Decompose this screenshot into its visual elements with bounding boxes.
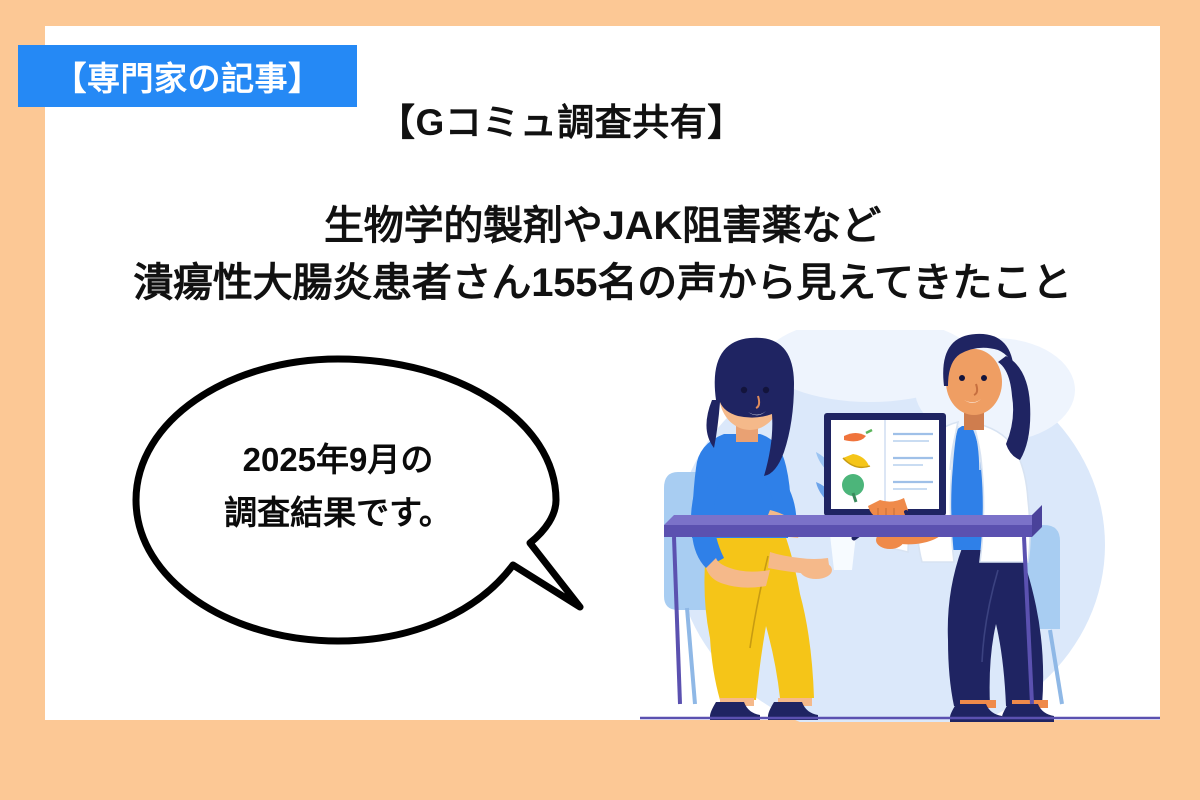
headline-line-1: 生物学的製剤やJAK阻害薬など (45, 198, 1160, 255)
eye-icon (741, 387, 747, 393)
hand-icon (800, 561, 832, 579)
speech-bubble: 2025年9月の 調査結果です。 (128, 355, 598, 655)
speech-bubble-shape (128, 355, 598, 655)
eye-icon (763, 387, 769, 393)
consultation-illustration (640, 330, 1160, 722)
clipboard-icon (824, 413, 946, 526)
headline-line-2: 潰瘍性大腸炎患者さん155名の声から見えてきたこと (45, 255, 1160, 312)
expert-article-badge-label: 【専門家の記事】 (54, 52, 322, 100)
expert-article-badge: 【専門家の記事】 (18, 45, 357, 107)
consultation-illustration-svg (640, 330, 1160, 722)
eye-icon (959, 375, 965, 381)
poster-root: 【専門家の記事】 【Gコミュ調査共有】 生物学的製剤やJAK阻害薬など 潰瘍性大… (0, 0, 1200, 800)
page-title: 【Gコミュ調査共有】 (378, 92, 745, 146)
eye-icon (981, 375, 987, 381)
broccoli-icon (842, 474, 864, 496)
headline-block: 生物学的製剤やJAK阻害薬など 潰瘍性大腸炎患者さん155名の声から見えてきたこ… (45, 198, 1160, 312)
